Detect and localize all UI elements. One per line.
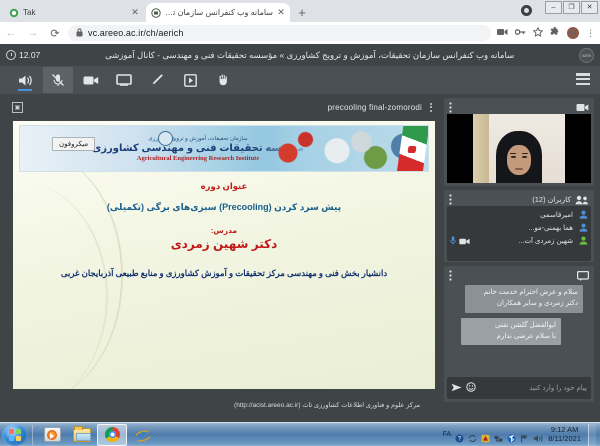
chrome-icon bbox=[105, 427, 120, 442]
network-icon[interactable] bbox=[494, 430, 503, 439]
user-microphone-icon bbox=[450, 232, 456, 250]
session-timer-value: 12.07 bbox=[19, 50, 40, 60]
chat-message: سلام و عرض احترام خدمت خانم دکتر زمردی و… bbox=[465, 285, 583, 313]
taskbar-item-media-player[interactable] bbox=[37, 424, 67, 446]
address-bar[interactable]: vc.areeo.ac.ir/ch/aerich bbox=[68, 25, 491, 41]
session-timer: 12.07 bbox=[6, 50, 40, 60]
send-icon[interactable] bbox=[451, 379, 462, 397]
chat-message-text: با سلام عرضی ندارم bbox=[466, 332, 556, 343]
emoji-icon[interactable] bbox=[466, 379, 476, 397]
user-camera-icon bbox=[459, 232, 470, 250]
slide-course-label: عنوان دوره bbox=[13, 181, 435, 192]
presentation-restore-icon[interactable]: ▣ bbox=[12, 102, 23, 113]
list-item[interactable]: هما بهمنی-مو... bbox=[450, 221, 588, 234]
forward-icon[interactable]: → bbox=[22, 22, 44, 44]
user-status-icons bbox=[450, 232, 470, 250]
presentation-title: precooling final-zomorodi bbox=[328, 103, 422, 112]
show-desktop-button[interactable] bbox=[588, 424, 596, 446]
users-title: کاربران (12) bbox=[452, 195, 571, 204]
banner-seal-icon bbox=[158, 131, 173, 146]
chat-bubble-icon bbox=[577, 271, 589, 281]
microphone-tooltip: میکروفون bbox=[52, 137, 95, 151]
bluetooth-icon[interactable] bbox=[507, 430, 516, 439]
screen: Tak ✕ سامانه وب کنفرانس سازمان تحقیقات ✕… bbox=[0, 0, 600, 446]
folder-icon bbox=[73, 428, 91, 442]
microphone-muted-button[interactable] bbox=[43, 67, 73, 93]
browser-tab-2[interactable]: سامانه وب کنفرانس سازمان تحقیقات ✕ bbox=[146, 3, 290, 22]
language-indicator[interactable]: FA bbox=[443, 431, 452, 438]
clock-icon bbox=[6, 50, 16, 60]
browser-menu-icon[interactable]: ⋮ bbox=[586, 28, 595, 39]
address-bar-url: vc.areeo.ac.ir/ch/aerich bbox=[88, 28, 183, 38]
slide-affiliation: دانشیار بخش فنی و مهندسی مرکز تحقیقات و … bbox=[59, 267, 389, 280]
conference-header: AERI سامانه وب کنفرانس سازمان تحقیقات، آ… bbox=[0, 44, 600, 66]
taskbar-clock[interactable]: 9:12 AM 8/11/2021 bbox=[546, 426, 581, 443]
users-panel: کاربران (12) امیرقاسمی bbox=[444, 190, 594, 262]
bookmark-star-icon[interactable] bbox=[533, 27, 543, 39]
institute-logo-icon: AERI bbox=[579, 48, 594, 63]
user-name: امیرقاسمی bbox=[450, 211, 573, 219]
browser-tab-1-title: Tak bbox=[23, 8, 127, 17]
profile-avatar[interactable]: H bbox=[567, 27, 579, 39]
presentation-slide[interactable]: Σ AERI سازمان تحقیقات، آموزش و ترویج کشا… bbox=[13, 121, 435, 389]
presentation-button[interactable] bbox=[175, 67, 205, 93]
tab-favicon-globe-icon bbox=[9, 8, 19, 18]
webcam-options-icon[interactable] bbox=[449, 102, 452, 113]
whiteboard-pen-button[interactable] bbox=[142, 67, 172, 93]
user-avatar-icon bbox=[579, 232, 588, 250]
action-flag-icon[interactable] bbox=[520, 430, 529, 439]
users-options-icon[interactable] bbox=[449, 194, 452, 205]
browser-toolbar: ← → ⟳ vc.areeo.ac.ir/ch/aerich H ⋮ bbox=[0, 22, 600, 44]
webcam-header bbox=[447, 101, 591, 114]
antivirus-icon[interactable] bbox=[481, 430, 490, 439]
clock-date: 8/11/2021 bbox=[548, 435, 581, 444]
eye-left bbox=[511, 156, 516, 158]
chat-message-sender: ابوالفضل گلشن تفتی bbox=[466, 321, 556, 332]
webcam-curtain bbox=[473, 114, 489, 183]
slide-teacher-label: مدرس: bbox=[13, 226, 435, 235]
browser-tab-2-title: سامانه وب کنفرانس سازمان تحقیقات bbox=[165, 8, 273, 17]
slide-teacher-name: دکتر شهین زمردی bbox=[13, 237, 435, 251]
conference-menu-button[interactable] bbox=[576, 73, 590, 85]
tab-strip-profile-icon[interactable] bbox=[521, 5, 532, 16]
browser-action-icons: H ⋮ bbox=[497, 27, 600, 39]
users-header: کاربران (12) bbox=[447, 193, 591, 206]
new-tab-button[interactable]: + bbox=[294, 5, 310, 21]
webcam-video-feed[interactable] bbox=[447, 114, 591, 183]
browser-tab-2-close-icon[interactable]: ✕ bbox=[277, 8, 285, 17]
conference-app: AERI سامانه وب کنفرانس سازمان تحقیقات، آ… bbox=[0, 44, 600, 422]
media-player-icon bbox=[44, 427, 61, 442]
key-icon[interactable] bbox=[515, 28, 526, 38]
windows-logo-icon bbox=[9, 429, 21, 441]
chat-options-icon[interactable] bbox=[449, 270, 452, 281]
reload-icon[interactable]: ⟳ bbox=[44, 22, 66, 44]
conference-title: سامانه وب کنفرانس سازمان تحقیقات، آموزش … bbox=[40, 50, 579, 61]
presentation-header: ▣ precooling final-zomorodi bbox=[8, 98, 440, 116]
eye-right bbox=[522, 156, 527, 158]
taskbar-divider bbox=[32, 425, 33, 445]
eyebrow-left bbox=[510, 153, 516, 154]
slide-course-title: پیش سرد کردن (Precooling) سبزی‌های برگی … bbox=[13, 201, 435, 215]
user-name: هما بهمنی-مو... bbox=[450, 224, 573, 232]
webcam-participant bbox=[496, 131, 542, 183]
right-sidebar: کاربران (12) امیرقاسمی bbox=[444, 98, 594, 410]
chat-input-placeholder[interactable]: پیام خود را وارد کنید bbox=[480, 384, 587, 392]
chat-header bbox=[447, 269, 591, 282]
user-name: شهین زمردی آت... bbox=[473, 237, 573, 245]
screen-share-button[interactable] bbox=[109, 67, 139, 93]
slide-body: عنوان دوره پیش سرد کردن (Precooling) سبز… bbox=[13, 181, 435, 280]
internet-explorer-icon: e bbox=[134, 427, 150, 442]
extensions-puzzle-icon[interactable] bbox=[550, 27, 560, 39]
help-icon[interactable]: ? bbox=[455, 430, 464, 439]
webcam-panel bbox=[444, 98, 594, 186]
window-controls: ‒ ❐ ✕ bbox=[545, 1, 598, 14]
taskbar-item-file-explorer[interactable] bbox=[67, 424, 97, 446]
list-item[interactable]: شهین زمردی آت... bbox=[450, 234, 588, 247]
conference-toolbar bbox=[0, 66, 600, 94]
chat-panel: سلام و عرض احترام خدمت خانم دکتر زمردی و… bbox=[444, 266, 594, 402]
start-button[interactable] bbox=[2, 424, 28, 446]
lock-icon bbox=[76, 28, 83, 39]
chat-input-row[interactable]: پیام خود را وارد کنید bbox=[447, 377, 591, 399]
eyebrow-right bbox=[522, 153, 528, 154]
camera-button[interactable] bbox=[76, 67, 106, 93]
list-item[interactable]: امیرقاسمی bbox=[450, 208, 588, 221]
taskbar-item-internet-explorer[interactable]: e bbox=[127, 424, 157, 446]
presentation-options-icon[interactable] bbox=[426, 103, 436, 112]
audio-button[interactable] bbox=[10, 67, 40, 93]
users-group-icon bbox=[575, 195, 589, 205]
window-close-button[interactable]: ✕ bbox=[581, 1, 598, 14]
sync-icon[interactable] bbox=[468, 430, 477, 439]
browser-tab-1-close-icon[interactable]: ✕ bbox=[131, 8, 139, 17]
users-list[interactable]: امیرقاسمی هما بهمنی-مو... bbox=[447, 206, 591, 261]
window-maximize-button[interactable]: ❐ bbox=[563, 1, 580, 14]
participant-face bbox=[507, 145, 531, 175]
chat-message: ابوالفضل گلشن تفتی با سلام عرضی ندارم bbox=[461, 318, 561, 346]
webcam-camera-icon bbox=[576, 103, 589, 112]
browser-tab-1[interactable]: Tak ✕ bbox=[4, 3, 144, 22]
tab-favicon-bbb-icon bbox=[151, 8, 161, 18]
mouth bbox=[515, 168, 523, 170]
browser-tab-strip: Tak ✕ سامانه وب کنفرانس سازمان تحقیقات ✕… bbox=[0, 0, 600, 22]
taskbar-item-google-chrome[interactable] bbox=[97, 424, 127, 446]
raise-hand-button[interactable] bbox=[208, 67, 238, 93]
camera-permission-icon[interactable] bbox=[497, 28, 508, 38]
window-minimize-button[interactable]: ‒ bbox=[545, 1, 562, 14]
presentation-footer: مرکز علوم و فناوری اطلاعات کشاورزی ثاث (… bbox=[12, 401, 436, 409]
system-tray: FA ? 9:12 AM 8/11 bbox=[443, 424, 600, 446]
windows-taskbar: e FA ? 9 bbox=[0, 422, 600, 446]
back-icon[interactable]: ← bbox=[0, 22, 22, 44]
volume-icon[interactable] bbox=[533, 430, 542, 439]
chat-message-list[interactable]: سلام و عرض احترام خدمت خانم دکتر زمردی و… bbox=[447, 282, 591, 377]
